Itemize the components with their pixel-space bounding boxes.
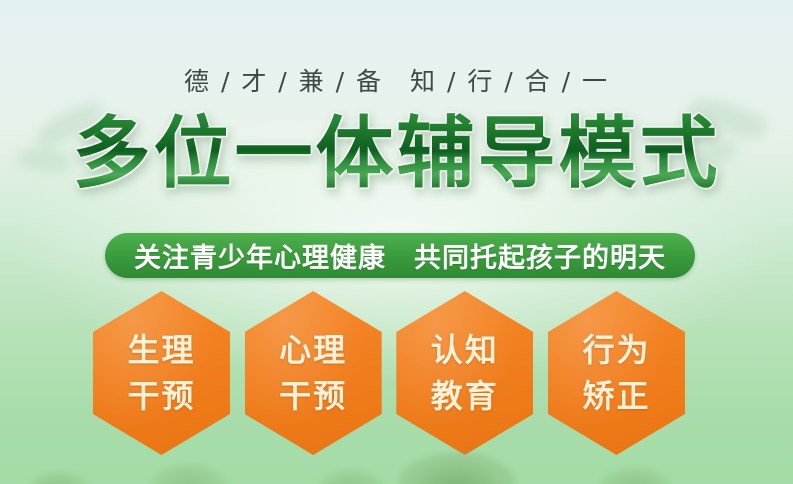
badge-row: 生理 干预 心理 干预 认知 教育 行为 矫正 xyxy=(93,291,685,455)
child-silhouette xyxy=(150,464,228,484)
slogan-banner-text: 关注青少年心理健康 共同托起孩子的明天 xyxy=(134,236,666,275)
badge-label-line1: 行为 xyxy=(582,330,650,370)
child-silhouette xyxy=(398,452,516,484)
child-silhouette xyxy=(318,470,384,484)
badge-behavioral-correction[interactable]: 行为 矫正 xyxy=(548,291,685,455)
badge-label-line2: 干预 xyxy=(279,376,347,416)
poster-canvas: 德 / 才 / 兼 / 备 知 / 行 / 合 / 一 多位一体辅导模式 关注青… xyxy=(0,0,793,484)
badge-label-line2: 教育 xyxy=(431,376,499,416)
badge-label-line1: 生理 xyxy=(127,330,195,370)
badge-label-line2: 矫正 xyxy=(582,376,650,416)
child-silhouette xyxy=(30,472,88,484)
child-silhouette xyxy=(600,468,670,484)
badge-label-line2: 干预 xyxy=(127,376,195,416)
badge-label-line1: 认知 xyxy=(431,330,499,370)
page-title: 多位一体辅导模式 xyxy=(0,111,793,197)
slogan-banner: 关注青少年心理健康 共同托起孩子的明天 xyxy=(105,233,695,278)
badge-cognitive-education[interactable]: 认知 教育 xyxy=(396,291,533,455)
badge-psychological-intervention[interactable]: 心理 干预 xyxy=(245,291,382,455)
badge-physiological-intervention[interactable]: 生理 干预 xyxy=(93,291,230,455)
eyebrow-tagline: 德 / 才 / 兼 / 备 知 / 行 / 合 / 一 xyxy=(0,62,793,98)
badge-label-line1: 心理 xyxy=(279,330,347,370)
